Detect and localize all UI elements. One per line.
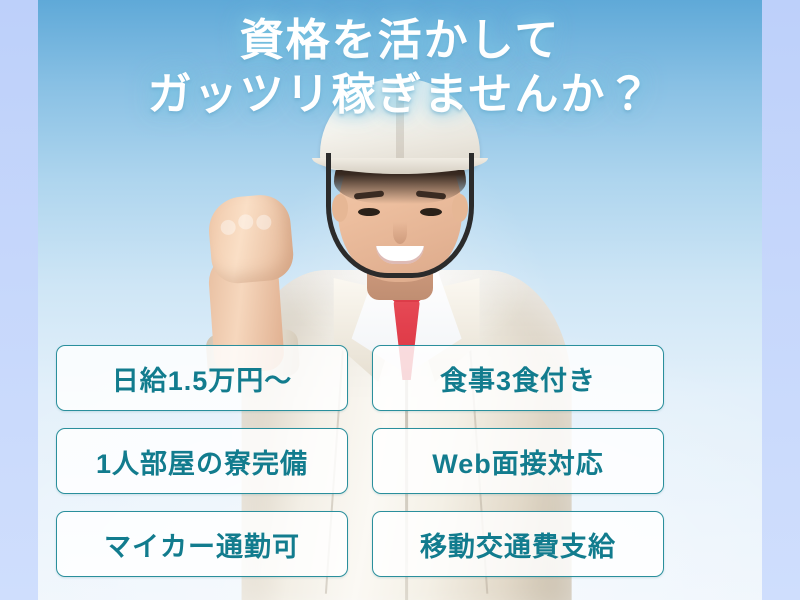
benefit-badge-grid: 日給1.5万円〜 食事3食付き 1人部屋の寮完備 Web面接対応 マイカー通勤可… xyxy=(56,345,664,577)
headline-line-1: 資格を活かして xyxy=(0,14,800,68)
knuckle xyxy=(256,214,272,230)
job-ad-banner: 資格を活かして ガッツリ稼ぎませんか？ 日給1.5万円〜 食事3食付き 1人部屋… xyxy=(0,0,800,600)
knuckle xyxy=(238,214,254,230)
headline: 資格を活かして ガッツリ稼ぎませんか？ xyxy=(0,14,800,121)
badge-travel-expenses: 移動交通費支給 xyxy=(372,511,664,577)
badge-private-dormitory: 1人部屋の寮完備 xyxy=(56,428,348,494)
hard-hat-chinstrap xyxy=(326,153,474,278)
headline-line-2: ガッツリ稼ぎませんか？ xyxy=(0,68,800,122)
badge-car-commute: マイカー通勤可 xyxy=(56,511,348,577)
badge-three-meals: 食事3食付き xyxy=(372,345,664,411)
badge-daily-wage: 日給1.5万円〜 xyxy=(56,345,348,411)
knuckle xyxy=(220,219,236,235)
badge-web-interview: Web面接対応 xyxy=(372,428,664,494)
raised-fist xyxy=(206,193,295,286)
